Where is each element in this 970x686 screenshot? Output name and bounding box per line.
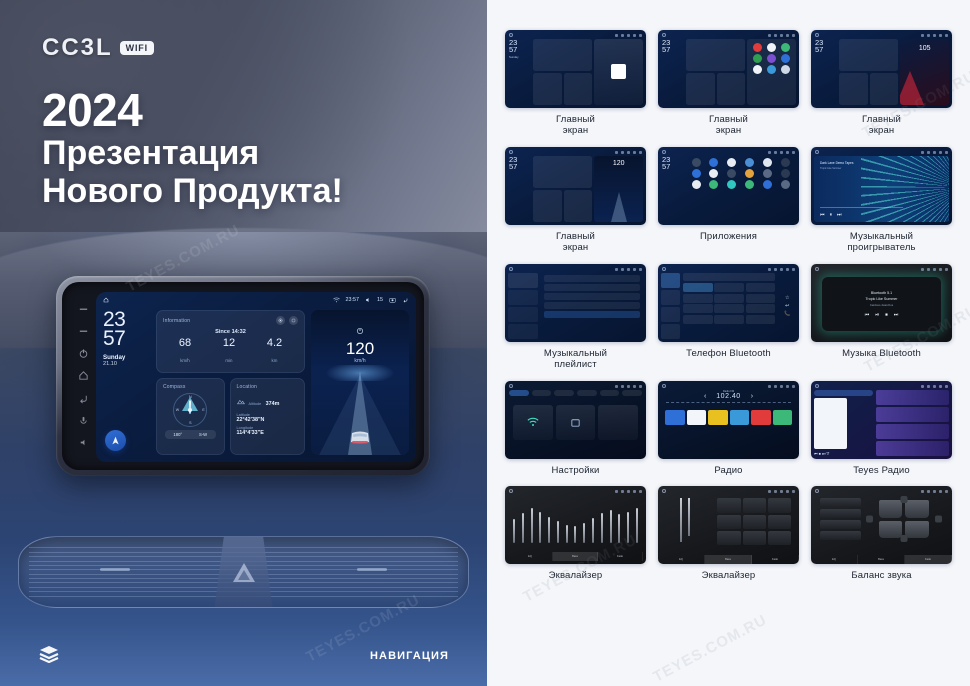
gallery-caption: Телефон Bluetooth bbox=[686, 348, 771, 360]
speed-unit: km/h bbox=[311, 358, 409, 364]
clock-minutes: 57 bbox=[103, 329, 150, 348]
head-unit-screen[interactable]: 23:57 15 bbox=[96, 292, 416, 462]
gallery-item[interactable]: 2357 Приложения bbox=[658, 147, 799, 254]
power-icon[interactable] bbox=[78, 348, 89, 359]
compass-south: S bbox=[189, 421, 191, 425]
gallery-item[interactable]: Bluetooth 5.1 Tropic Like Summer Cardoso… bbox=[811, 264, 952, 371]
home-indicator-icon[interactable] bbox=[103, 297, 109, 303]
vent-control-left[interactable] bbox=[100, 568, 130, 571]
widgets-column: Information bbox=[156, 310, 305, 455]
thumbnail-home-drive[interactable]: 2357 105 bbox=[811, 30, 952, 108]
gallery-caption: Музыкальный плейлист bbox=[544, 348, 607, 371]
wifi-icon bbox=[333, 297, 340, 303]
navigation-label: НАВИГАЦИЯ bbox=[370, 650, 449, 662]
prev-station-icon[interactable]: ‹ bbox=[704, 393, 706, 400]
navigation-button[interactable] bbox=[105, 430, 126, 451]
compass-direction: S-W bbox=[199, 432, 207, 437]
stat-item: 68 km/h bbox=[179, 338, 191, 367]
presentation-slide: CC3L WIFI 2024 Презентация Нового Продук… bbox=[0, 0, 970, 686]
gallery-caption: Teyes Радио bbox=[853, 465, 910, 477]
stat-item: 12 min bbox=[223, 338, 235, 367]
dashboard-vent bbox=[18, 536, 469, 608]
stat-value: 12 bbox=[223, 338, 235, 349]
thumbnail-bluetooth-music[interactable]: Bluetooth 5.1 Tropic Like Summer Cardoso… bbox=[811, 264, 952, 342]
bt-version: Bluetooth 5.1 bbox=[871, 291, 892, 295]
status-bar: 23:57 15 bbox=[96, 292, 416, 308]
headline-line-2: Нового Продукта! bbox=[42, 172, 343, 210]
stat-unit: min bbox=[225, 358, 232, 363]
brand-logo: CC3L WIFI bbox=[42, 34, 154, 62]
information-widget[interactable]: Information bbox=[156, 310, 305, 373]
gallery-item[interactable]: EQBassFade Баланс звука bbox=[811, 486, 952, 581]
clock-widget: 23 57 Sunday 21.10 bbox=[103, 310, 150, 455]
gallery-caption: Главный экран bbox=[862, 114, 901, 137]
gallery-caption: Приложения bbox=[700, 231, 757, 243]
next-station-icon[interactable]: › bbox=[751, 393, 753, 400]
gallery-item[interactable]: 2357 Главный экран bbox=[658, 30, 799, 137]
balance-rear-button[interactable] bbox=[900, 535, 907, 542]
watermark: TEYES.COM.RU bbox=[650, 611, 769, 685]
home-screen: 23 57 Sunday 21.10 Information bbox=[103, 310, 409, 455]
volume-level: 15 bbox=[377, 297, 383, 303]
compass-center bbox=[188, 408, 192, 412]
thumbnail-equalizer-bars[interactable]: EQBassFade bbox=[505, 486, 646, 564]
speed-icon bbox=[311, 322, 409, 340]
thumbnail-home-media[interactable]: 2357Sunday bbox=[505, 30, 646, 108]
hero-panel: CC3L WIFI 2024 Презентация Нового Продук… bbox=[0, 0, 487, 686]
compass-west: W bbox=[176, 408, 179, 412]
back-icon[interactable] bbox=[402, 297, 409, 303]
settings-icon[interactable] bbox=[276, 316, 285, 325]
bt-artist: Cardoso Juanchos bbox=[870, 303, 893, 307]
camera-icon[interactable] bbox=[389, 297, 396, 303]
stat-item: 4.2 km bbox=[267, 338, 282, 367]
gallery-grid: 2357Sunday Главный экран bbox=[505, 30, 952, 582]
gallery-caption: Музыкальный проигрыватель bbox=[847, 231, 915, 254]
thumbnail-settings[interactable] bbox=[505, 381, 646, 459]
gallery-item[interactable]: Музыкальный плейлист bbox=[505, 264, 646, 371]
gallery-caption: Главный экран bbox=[556, 114, 595, 137]
thumbnail-sound-balance[interactable]: EQBassFade bbox=[811, 486, 952, 564]
wifi-badge: WIFI bbox=[120, 41, 154, 55]
stat-value: 68 bbox=[179, 338, 191, 349]
gallery-item[interactable]: 2357Sunday Главный экран bbox=[505, 30, 646, 137]
stat-unit: km/h bbox=[180, 358, 190, 363]
gallery-caption: Главный экран bbox=[709, 114, 748, 137]
mic-icon[interactable] bbox=[78, 415, 89, 426]
brand-name: CC3L bbox=[42, 34, 113, 62]
head-unit-side-buttons[interactable] bbox=[73, 298, 93, 454]
balance-right-button[interactable] bbox=[935, 516, 942, 523]
volume-icon bbox=[365, 297, 371, 303]
altitude-value: 374m bbox=[266, 401, 280, 407]
thumbnail-playlist[interactable] bbox=[505, 264, 646, 342]
location-widget[interactable]: Location Altitude 374m bbox=[230, 378, 305, 455]
drive-widget[interactable]: 120 km/h bbox=[311, 310, 409, 455]
gallery-item[interactable]: ⏮ ⏹ ⏭ ♡ Teyes Радио bbox=[811, 381, 952, 476]
thumbnail-apps[interactable]: 2357 bbox=[658, 147, 799, 225]
screenshot-gallery: 2357Sunday Главный экран bbox=[487, 0, 970, 686]
radio-frequency: 102.40 bbox=[716, 393, 740, 400]
thumbnail-radio[interactable]: Radio FM ‹ 102.40 › bbox=[658, 381, 799, 459]
balance-front-button[interactable] bbox=[900, 496, 907, 503]
stat-value: 4.2 bbox=[267, 338, 282, 349]
gallery-item[interactable]: ☆↩📞 Телефон Bluetooth bbox=[658, 264, 799, 371]
gallery-item[interactable]: Radio FM ‹ 102.40 › Радио bbox=[658, 381, 799, 476]
clock-weekday: Sunday bbox=[103, 354, 150, 361]
head-unit-body: 23:57 15 bbox=[62, 282, 424, 470]
altitude-label: Altitude bbox=[249, 402, 262, 406]
thumbnail-music-player[interactable]: Dark Lane Demo Tapes Tropic Like Summer … bbox=[811, 147, 952, 225]
thumbnail-bluetooth-phone[interactable]: ☆↩📞 bbox=[658, 264, 799, 342]
vent-control-right[interactable] bbox=[357, 568, 387, 571]
gallery-caption: Эквалайзер bbox=[702, 570, 756, 582]
thumbnail-home-speed[interactable]: 2357 120 bbox=[505, 147, 646, 225]
gallery-item[interactable]: EQBassFade Эквалайзер bbox=[505, 486, 646, 581]
balance-left-button[interactable] bbox=[866, 516, 873, 523]
compass-north: N bbox=[189, 395, 192, 399]
headline-year: 2024 bbox=[42, 86, 343, 134]
compass-heading: 180° bbox=[173, 432, 182, 437]
gallery-item[interactable]: 2357 120 Главный экран bbox=[505, 147, 646, 254]
status-time: 23:57 bbox=[346, 297, 360, 303]
stat-unit: km bbox=[272, 358, 278, 363]
layers-icon[interactable] bbox=[38, 645, 60, 668]
speed-value: 120 bbox=[311, 340, 409, 357]
expand-icon[interactable] bbox=[289, 316, 298, 325]
compass-title: Compass bbox=[163, 384, 218, 390]
gallery-item[interactable]: Dark Lane Demo Tapes Tropic Like Summer … bbox=[811, 147, 952, 254]
thumbnail-teyes-radio[interactable]: ⏮ ⏹ ⏭ ♡ bbox=[811, 381, 952, 459]
gallery-caption: Настройки bbox=[552, 465, 600, 477]
gallery-caption: Баланс звука bbox=[851, 570, 911, 582]
gallery-caption: Главный экран bbox=[556, 231, 595, 254]
gallery-caption: Музыка Bluetooth bbox=[842, 348, 921, 360]
car-model-icon bbox=[346, 424, 374, 448]
volume-down-icon[interactable] bbox=[78, 326, 89, 337]
compass-dial: N S W E bbox=[173, 393, 207, 427]
home-icon[interactable] bbox=[78, 370, 89, 381]
trip-stats: 68 km/h 12 min 4.2 km bbox=[163, 338, 298, 367]
back-icon[interactable] bbox=[78, 393, 89, 404]
trip-since: Since 14:32 bbox=[163, 329, 298, 335]
thumb-speed: 120 bbox=[594, 160, 643, 167]
gallery-item[interactable]: EQBassFade Эквалайзер bbox=[658, 486, 799, 581]
player-track: Dark Lane Demo Tapes bbox=[820, 161, 853, 165]
thumb-speed: 105 bbox=[900, 45, 949, 52]
compass-east: E bbox=[202, 408, 204, 412]
bt-track: Tropic Like Summer bbox=[865, 297, 897, 301]
page-title: 2024 Презентация Нового Продукта! bbox=[42, 86, 343, 210]
altitude-icon bbox=[237, 392, 245, 410]
gallery-caption: Эквалайзер bbox=[549, 570, 603, 582]
clock-date: 21.10 bbox=[103, 361, 150, 367]
information-title: Information bbox=[163, 318, 190, 324]
longitude-value: 114°4'33"E bbox=[237, 430, 298, 436]
headline-line-1: Презентация bbox=[42, 134, 343, 172]
volume-up-icon[interactable] bbox=[78, 304, 89, 315]
mute-icon[interactable] bbox=[78, 437, 89, 448]
thumbnail-equalizer-presets[interactable]: EQBassFade bbox=[658, 486, 799, 564]
head-unit-bezel: 23:57 15 bbox=[56, 276, 430, 476]
thumbnail-home-apps[interactable]: 2357 bbox=[658, 30, 799, 108]
compass-widget[interactable]: Compass N S W E bbox=[156, 378, 225, 455]
gallery-item[interactable]: Настройки bbox=[505, 381, 646, 476]
gallery-caption: Радио bbox=[714, 465, 742, 477]
hazard-button[interactable] bbox=[215, 537, 273, 607]
latitude-value: 22°42'38"N bbox=[237, 417, 298, 423]
gallery-item[interactable]: 2357 105 Главный экран bbox=[811, 30, 952, 137]
thumb-clock-m: 57 bbox=[509, 45, 517, 54]
location-title: Location bbox=[237, 384, 298, 390]
hero-footer: НАВИГАЦИЯ bbox=[0, 626, 487, 686]
hazard-triangle-icon bbox=[233, 563, 255, 582]
